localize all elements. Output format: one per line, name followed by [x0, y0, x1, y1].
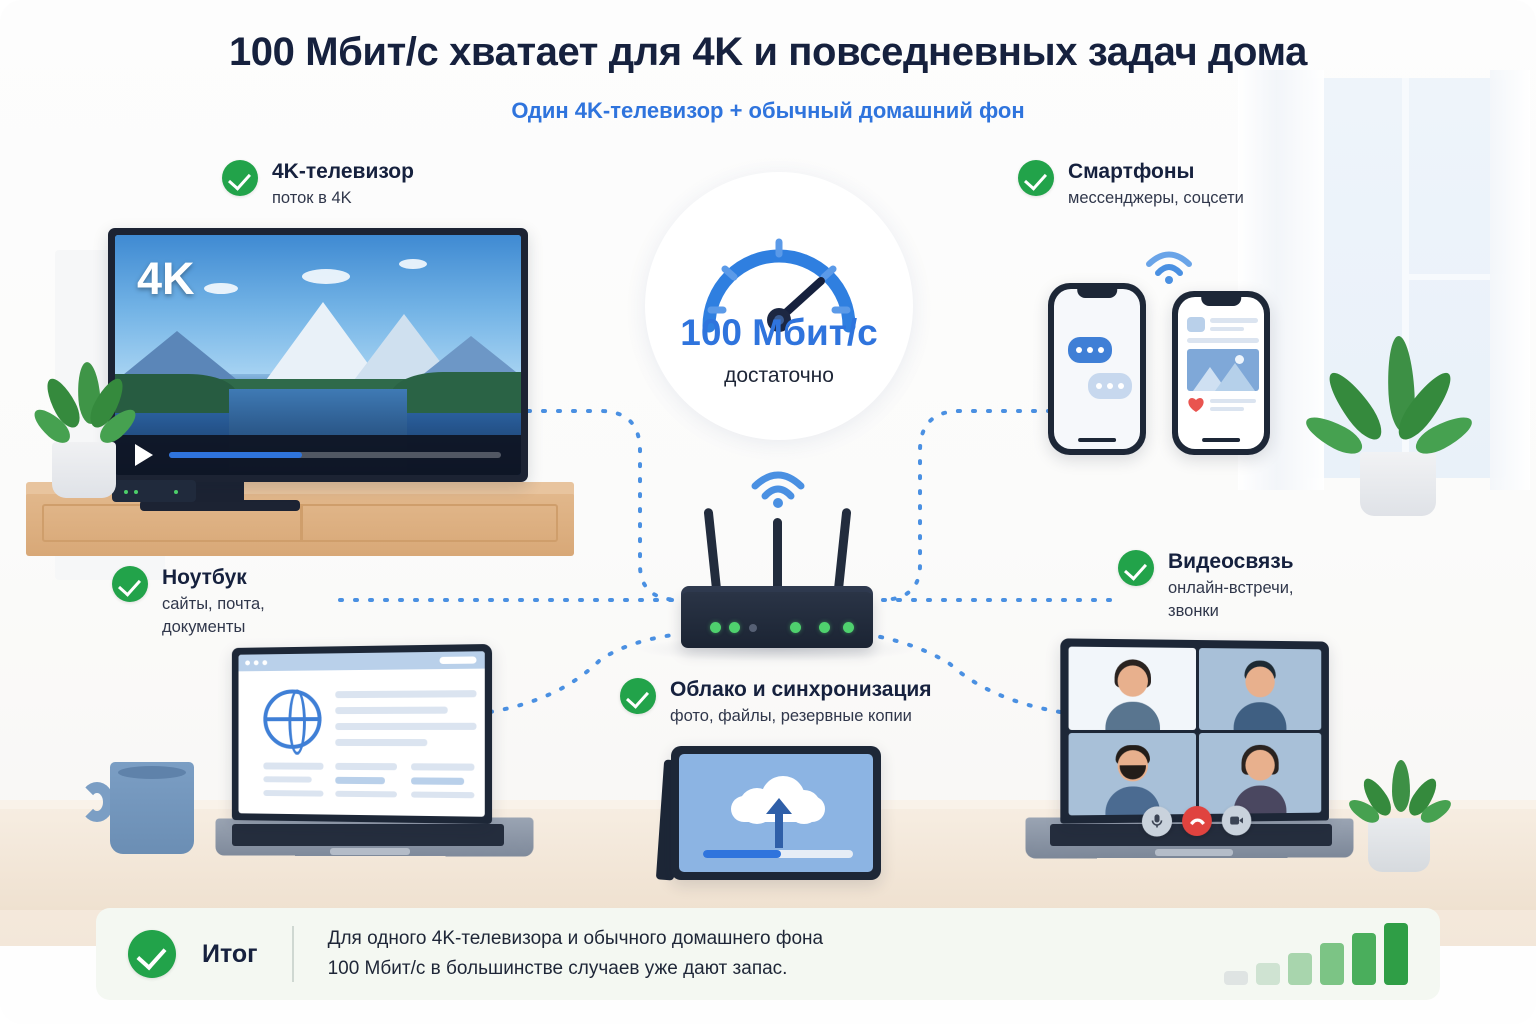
router-led — [819, 622, 830, 633]
microphone-icon[interactable] — [1142, 806, 1172, 837]
avatar-head — [1246, 750, 1275, 781]
label-phones-sub: мессенджеры, соцсети — [1068, 188, 1244, 210]
wifi-icon — [750, 468, 806, 508]
check-circle-icon — [222, 160, 258, 196]
coffee-mug — [110, 762, 194, 854]
content-line — [411, 777, 464, 785]
television: 4K — [108, 228, 528, 482]
tv-stand — [26, 492, 574, 556]
gauge-value: 100 Мбит/с — [645, 312, 913, 354]
label-cloud-sub: фото, файлы, резервные копии — [670, 706, 932, 728]
laptop-browser — [232, 644, 492, 824]
camera-icon[interactable] — [1222, 805, 1252, 835]
content-line — [263, 763, 323, 770]
video-call-grid — [1069, 647, 1322, 816]
avatar-head — [1246, 666, 1275, 697]
label-tv-sub: поток в 4K — [272, 188, 414, 210]
wifi-router — [681, 592, 873, 648]
browser-dot — [254, 660, 259, 665]
label-cloud-title: Облако и синхронизация — [670, 678, 932, 703]
avatar-body — [1234, 702, 1287, 730]
video-call-laptop — [1060, 638, 1329, 823]
page-title: 100 Мбит/с хватает для 4K и повседневных… — [0, 30, 1536, 75]
video-laptop-trackpad — [1155, 849, 1233, 856]
stb-led — [174, 490, 178, 494]
content-line — [411, 792, 474, 799]
phone-notch — [1201, 297, 1241, 306]
summary-divider — [292, 926, 294, 982]
router-led — [710, 622, 721, 633]
plant-pot — [1368, 818, 1430, 872]
browser-dot — [262, 660, 267, 665]
content-line — [335, 707, 447, 715]
speed-gauge: 100 Мбит/с достаточно — [645, 172, 913, 440]
summary-word: Итог — [202, 940, 258, 969]
check-circle-icon — [112, 566, 148, 602]
chart-bar — [1352, 933, 1376, 985]
label-tv-title: 4K-телевизор — [272, 160, 414, 185]
check-circle-icon — [128, 930, 176, 978]
label-laptop: Ноутбук сайты, почта, документы — [112, 566, 265, 638]
feed-image — [1187, 349, 1259, 391]
label-cloud: Облако и синхронизация фото, файлы, резе… — [620, 678, 932, 728]
summary-line-1: Для одного 4K-телевизора и обычного дома… — [328, 924, 824, 954]
stb-led — [124, 490, 128, 494]
signal-bars-chart — [1224, 923, 1408, 985]
chat-bubble-icon — [1068, 337, 1112, 363]
feed-line — [1210, 318, 1258, 323]
label-phones: Смартфоны мессенджеры, соцсети — [1018, 160, 1244, 210]
stb-led — [134, 490, 138, 494]
check-circle-icon — [1118, 550, 1154, 586]
participant-tile — [1198, 732, 1321, 814]
content-line — [335, 777, 385, 784]
feed-line — [1210, 399, 1256, 403]
label-video-sub-1: онлайн-встречи, — [1168, 578, 1294, 600]
phone-notch — [1077, 289, 1117, 298]
avatar-body — [1105, 701, 1160, 729]
feed-avatar — [1187, 317, 1205, 332]
participant-tile — [1069, 733, 1196, 816]
browser-dot — [245, 660, 250, 665]
end-call-icon[interactable] — [1182, 806, 1212, 836]
tv-progress-fill — [169, 452, 302, 458]
avatar-head — [1117, 665, 1147, 696]
chat-bubble-icon — [1088, 373, 1132, 399]
heart-icon — [1187, 397, 1205, 413]
tv-4k-badge: 4K — [137, 253, 195, 305]
summary-text: Для одного 4K-телевизора и обычного дома… — [328, 924, 824, 984]
router-led — [790, 622, 801, 633]
tv-progress-track[interactable] — [169, 452, 501, 458]
phone-home-indicator — [1202, 438, 1240, 442]
content-line — [335, 791, 397, 798]
chart-bar — [1384, 923, 1408, 985]
content-line — [335, 690, 476, 698]
phone-messenger-screen — [1054, 289, 1140, 449]
chart-bar — [1320, 943, 1344, 985]
tablet-screen — [679, 754, 873, 872]
label-phones-title: Смартфоны — [1068, 160, 1244, 185]
content-line — [335, 739, 427, 746]
upload-progress-track — [703, 850, 853, 858]
phone-messenger — [1048, 283, 1146, 455]
participant-tile — [1198, 648, 1321, 730]
laptop-trackpad — [330, 848, 410, 855]
router-antenna — [773, 518, 782, 594]
plant-pot — [1360, 452, 1436, 516]
browser-window — [239, 651, 485, 817]
tablet-cloud-sync — [671, 746, 881, 880]
chart-bar — [1224, 971, 1248, 985]
content-line — [263, 776, 311, 782]
tv-player-bar[interactable] — [115, 435, 521, 475]
label-laptop-sub-2: документы — [162, 617, 265, 639]
play-icon[interactable] — [135, 444, 153, 466]
label-laptop-sub-1: сайты, почта, — [162, 594, 265, 616]
upload-arrow-icon — [775, 812, 783, 848]
router-led-off — [749, 624, 757, 632]
page-subtitle: Один 4K-телевизор + обычный домашний фон — [0, 98, 1536, 124]
infographic-canvas: 100 Мбит/с хватает для 4K и повседневных… — [0, 0, 1536, 1024]
call-controls[interactable] — [1142, 805, 1251, 836]
feed-line — [1187, 338, 1259, 343]
chart-bar — [1256, 963, 1280, 985]
curtain-right — [1490, 70, 1530, 490]
participant-tile — [1069, 647, 1196, 730]
check-circle-icon — [620, 678, 656, 714]
laptop-keyboard — [232, 824, 504, 846]
label-tv: 4K-телевизор поток в 4K — [222, 160, 414, 210]
phone-social — [1172, 291, 1270, 455]
gauge-caption: достаточно — [645, 364, 913, 388]
summary-panel: Итог Для одного 4K-телевизора и обычного… — [96, 908, 1440, 1000]
globe-icon — [263, 689, 321, 749]
browser-toolbar — [239, 651, 485, 671]
content-line — [335, 723, 476, 730]
router-led — [843, 622, 854, 633]
wifi-icon — [1143, 248, 1195, 284]
chart-bar — [1288, 953, 1312, 985]
tv-cloud — [399, 259, 427, 269]
mug-handle — [80, 782, 114, 822]
content-line — [335, 763, 397, 770]
tv-stand-divider — [300, 504, 303, 542]
phone-home-indicator — [1078, 438, 1116, 442]
cloud-upload-icon — [731, 776, 825, 828]
gauge-ticks — [711, 242, 847, 310]
content-line — [411, 763, 474, 770]
label-video-title: Видеосвязь — [1168, 550, 1294, 575]
feed-line — [1210, 327, 1244, 331]
check-circle-icon — [1018, 160, 1054, 196]
phone-social-screen — [1178, 297, 1264, 449]
tv-cloud — [302, 269, 350, 284]
set-top-box — [112, 480, 196, 502]
label-laptop-title: Ноутбук — [162, 566, 265, 591]
content-line — [263, 790, 323, 797]
label-video: Видеосвязь онлайн-встречи, звонки — [1118, 550, 1294, 622]
label-video-sub-2: звонки — [1168, 601, 1294, 623]
router-led — [729, 622, 740, 633]
upload-progress-fill — [703, 850, 781, 858]
browser-url-bar[interactable] — [440, 656, 477, 664]
plant-pot — [52, 442, 116, 498]
feed-line — [1210, 407, 1244, 411]
tv-screen: 4K — [115, 235, 521, 475]
summary-line-2: 100 Мбит/с в большинстве случаев уже даю… — [328, 954, 824, 984]
